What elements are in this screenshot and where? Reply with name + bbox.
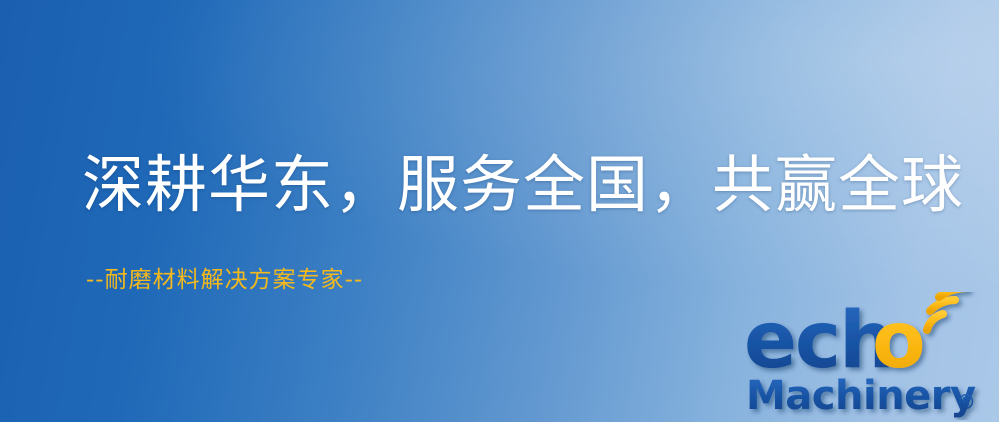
banner-headline: 深耕华东，服务全国，共赢全球	[82, 152, 964, 219]
banner-subtitle: --耐磨材料解决方案专家--	[86, 268, 363, 293]
promotional-banner: 深耕华东，服务全国，共赢全球 --耐磨材料解决方案专家--	[0, 0, 999, 422]
logo-tagline: Machinery	[746, 373, 976, 419]
signal-wave-icon	[927, 292, 966, 330]
echo-machinery-logo: ech o Machinery ®	[744, 292, 996, 420]
logo-registered-mark: ®	[956, 390, 976, 414]
